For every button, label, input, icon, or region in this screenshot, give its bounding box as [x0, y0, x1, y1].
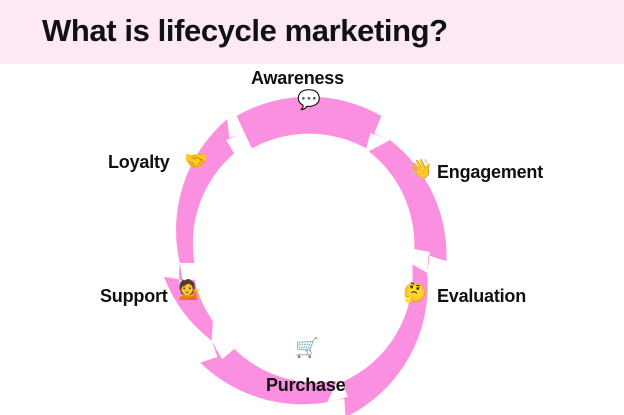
ring-segments: [164, 97, 447, 415]
slide-canvas: What is lifecycle marketing? Awareness: [0, 0, 624, 415]
stage-label-awareness: Awareness: [251, 68, 344, 89]
thinking-face-icon: 🤔: [403, 284, 427, 303]
page-title: What is lifecycle marketing?: [42, 11, 448, 51]
lifecycle-marketing-diagram: Awareness 💬 Engagement 👋 Evaluation 🤔 Pu…: [0, 64, 624, 415]
stage-label-loyalty: Loyalty: [108, 152, 170, 173]
shopping-cart-icon: 🛒: [295, 339, 319, 358]
stage-label-purchase: Purchase: [266, 375, 345, 396]
stage-label-support: Support: [100, 286, 168, 307]
header-band: What is lifecycle marketing?: [0, 0, 624, 64]
handshake-icon: 🤝: [184, 152, 208, 171]
waving-hand-icon: 👋: [409, 160, 433, 179]
ring-segment-engagement: [369, 140, 447, 273]
stage-label-evaluation: Evaluation: [437, 286, 526, 307]
cycle-ring-svg: [0, 64, 624, 415]
information-desk-person-icon: 💁: [178, 281, 202, 300]
stage-label-engagement: Engagement: [437, 162, 543, 183]
ring-segment-support: [164, 263, 213, 341]
speech-balloon-icon: 💬: [297, 91, 321, 110]
ring-segment-loyalty: [176, 119, 246, 263]
